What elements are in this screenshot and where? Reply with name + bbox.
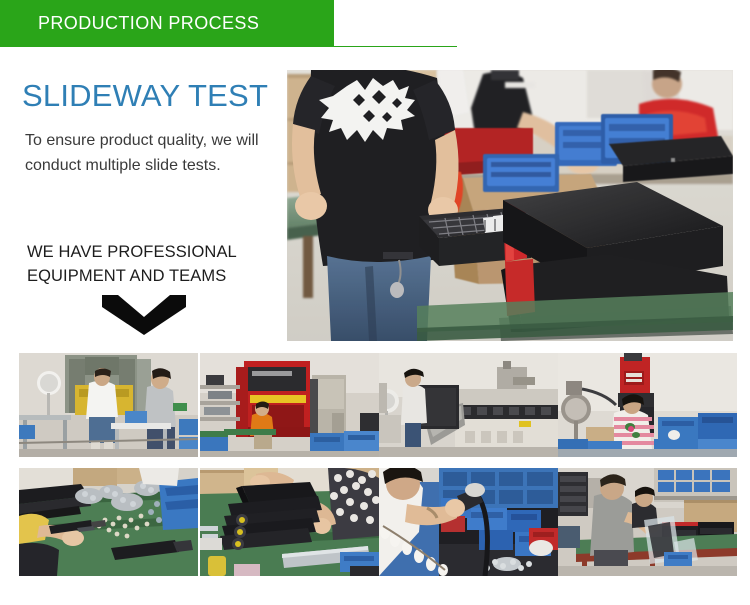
thumb-spot-welder (558, 353, 737, 457)
thumb-cnc-punch (379, 353, 558, 457)
page-title: PRODUCTION PROCESS (38, 13, 259, 34)
thumb-screwdriving (379, 468, 558, 576)
thumb-press-machine (19, 353, 198, 457)
production-process-page: PRODUCTION PROCESS SLIDEWAY TEST To ensu… (0, 0, 750, 605)
chevron-down-icon (102, 295, 186, 335)
thumb-parts-assembly (19, 468, 198, 576)
slideway-test-photo (287, 70, 733, 341)
section-subcopy: To ensure product quality, we will condu… (25, 128, 275, 178)
section-tagline: WE HAVE PROFESSIONAL EQUIPMENT AND TEAMS (27, 240, 279, 288)
header-divider (334, 46, 457, 47)
thumb-packing (558, 468, 737, 576)
section-headline: SLIDEWAY TEST (22, 78, 268, 114)
thumb-press-brake (200, 353, 379, 457)
thumb-rail-assembly (200, 468, 379, 576)
